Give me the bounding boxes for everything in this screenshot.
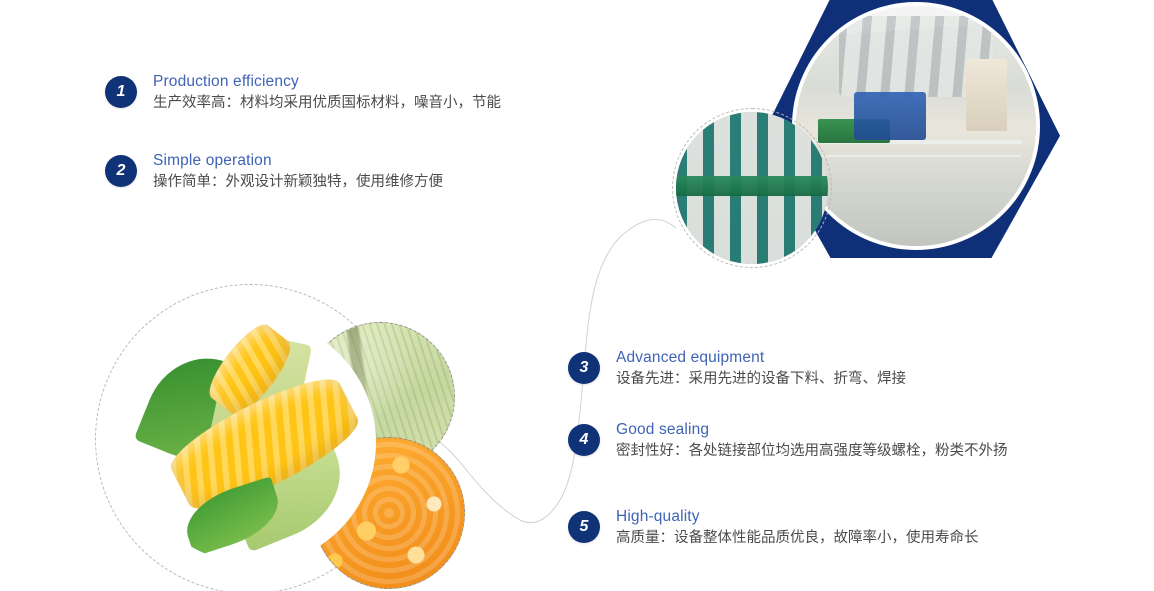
feature-item-4: 4 Good sealing 密封性好：各处链接部位均选用高强度等级螺栓，粉类不…	[568, 424, 1008, 462]
infographic-canvas: 1 Production efficiency 生产效率高：材料均采用优质国标材…	[0, 0, 1154, 591]
feature-number-badge-5: 5	[568, 511, 600, 543]
feature-number-badge-3: 3	[568, 352, 600, 384]
feature-desc-4: 密封性好：各处链接部位均选用高强度等级螺栓，粉类不外扬	[616, 441, 1008, 462]
feature-item-3: 3 Advanced equipment 设备先进：采用先进的设备下料、折弯、焊…	[568, 352, 906, 390]
feature-title-3: Advanced equipment	[616, 348, 906, 368]
feature-text-5: High-quality 高质量：设备整体性能品质优良，故障率小，使用寿命长	[616, 507, 979, 549]
flour-milling-plant-photo	[792, 2, 1040, 250]
feature-desc-5: 高质量：设备整体性能品质优良，故障率小，使用寿命长	[616, 528, 979, 549]
green-corn-processing-line-photo	[676, 112, 828, 264]
feature-number-badge-4: 4	[568, 424, 600, 456]
feature-text-4: Good sealing 密封性好：各处链接部位均选用高强度等级螺栓，粉类不外扬	[616, 420, 1008, 462]
feature-item-2: 2 Simple operation 操作简单：外观设计新颖独特，使用维修方便	[105, 155, 443, 193]
feature-title-1: Production efficiency	[153, 72, 501, 92]
feature-text-2: Simple operation 操作简单：外观设计新颖独特，使用维修方便	[153, 151, 443, 193]
feature-item-5: 5 High-quality 高质量：设备整体性能品质优良，故障率小，使用寿命长	[568, 511, 979, 549]
feature-number-badge-1: 1	[105, 76, 137, 108]
feature-number-badge-2: 2	[105, 155, 137, 187]
feature-desc-2: 操作简单：外观设计新颖独特，使用维修方便	[153, 172, 443, 193]
feature-text-3: Advanced equipment 设备先进：采用先进的设备下料、折弯、焊接	[616, 348, 906, 390]
feature-desc-1: 生产效率高：材料均采用优质国标材料，噪音小，节能	[153, 93, 501, 114]
feature-text-1: Production efficiency 生产效率高：材料均采用优质国标材料，…	[153, 72, 501, 114]
feature-title-2: Simple operation	[153, 151, 443, 171]
feature-desc-3: 设备先进：采用先进的设备下料、折弯、焊接	[616, 369, 906, 390]
feature-item-1: 1 Production efficiency 生产效率高：材料均采用优质国标材…	[105, 76, 501, 114]
feature-title-5: High-quality	[616, 507, 979, 527]
feature-title-4: Good sealing	[616, 420, 1008, 440]
fresh-corn-cobs-photo	[128, 318, 376, 566]
